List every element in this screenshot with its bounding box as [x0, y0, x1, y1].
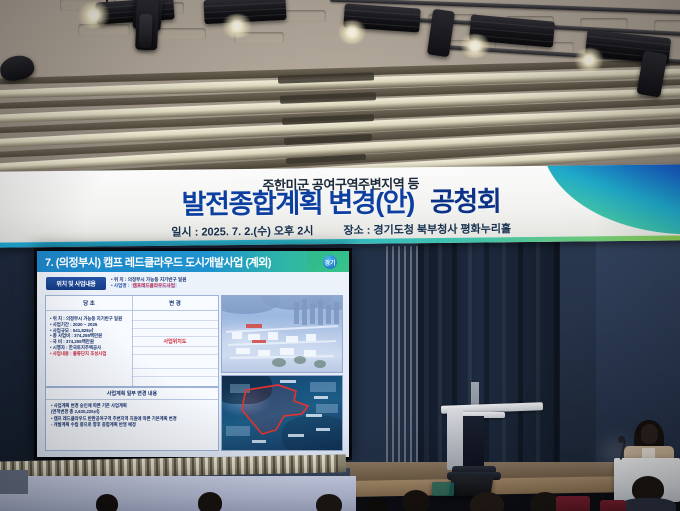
light-glow [458, 34, 492, 58]
slide-change-bullets: • 사업계획 변경 승인에 따른 기존 사업계획 (면적변경 총 2,630,2… [51, 403, 213, 429]
slide-table: 당 초 변 경 • 위 치 : 의정부시 가능동 지기반구 일원 • 사업기간 … [45, 295, 219, 387]
speaker-head [641, 424, 658, 444]
slide-table-col1: 당 초 [46, 299, 132, 307]
light-glow [76, 2, 112, 28]
slide-location-line: • 위 치 : 의정부시 가능동 지기반구 일원 • 사업명 : 캠프레드클라우… [111, 277, 217, 289]
auditorium-photo: 주한미군 공여구역주변지역 등 발전종합계획 변경(안) 공청회 일시 : 20… [0, 0, 680, 511]
audience-head [316, 494, 342, 511]
slide-info-bullets: • 위 치 : 의정부시 가능동 지기반구 일원 • 사업기간 : 2020 ~… [50, 316, 128, 357]
audience-head [366, 498, 388, 511]
event-banner: 주한미군 공여구역주변지역 등 발전종합계획 변경(안) 공청회 일시 : 20… [0, 164, 680, 247]
slide-table-col2: 변 경 [132, 299, 218, 307]
banner-title-part1: 발전종합계획 변경(안) [181, 187, 414, 219]
banner-place: 장소 : 경기도청 북부청사 평화누리홀 [343, 220, 511, 238]
audience-shoulders [620, 498, 676, 511]
slide-project-name-label: • 사업명 : [111, 283, 131, 288]
audience-head [198, 492, 222, 511]
slide-satellite-map [221, 375, 343, 451]
banner-title-part2: 공청회 [430, 186, 501, 217]
stage-cable-box [432, 482, 454, 496]
slide-aerial-photo [221, 295, 343, 373]
presentation-slide: 7. (의정부시) 캠프 레드클라우드 도시개발사업 (계외) 경기 위치 및 … [37, 251, 349, 457]
audience-haze-band [0, 476, 356, 511]
slide-change-note-label: 사업계획 일부 변경 내용 [46, 390, 218, 397]
slide-change-box: 사업계획 일부 변경 내용 • 사업계획 변경 승인에 따른 기존 사업계획 (… [45, 387, 219, 451]
light-glow [336, 20, 368, 44]
slide-header-title: 7. (의정부시) 캠프 레드클라우드 도시개발사업 (계외) [45, 254, 271, 270]
audience-chair [556, 496, 590, 511]
light-glow [572, 48, 606, 72]
left-foreground-block [0, 470, 28, 494]
audience-head [470, 492, 504, 511]
wall-panel-mid-right [560, 236, 596, 472]
map-boundary-polygon [222, 376, 342, 450]
banner-date: 일시 : 2025. 7. 2.(수) 오후 2시 [171, 222, 313, 239]
light-glow [220, 14, 254, 38]
slide-header: 7. (의정부시) 캠프 레드클라우드 도시개발사업 (계외) [37, 251, 349, 272]
audience-head [402, 490, 430, 511]
slide-section-tag: 위치 및 사업내용 [46, 277, 106, 290]
slide-badge: 경기 [323, 255, 337, 269]
banner-title: 발전종합계획 변경(안) 공청회 [0, 184, 680, 221]
audience-head [96, 494, 118, 511]
projection-screen: 7. (의정부시) 캠프 레드클라우드 도시개발사업 (계외) 경기 위치 및 … [34, 248, 352, 460]
audience-chair [600, 500, 626, 511]
